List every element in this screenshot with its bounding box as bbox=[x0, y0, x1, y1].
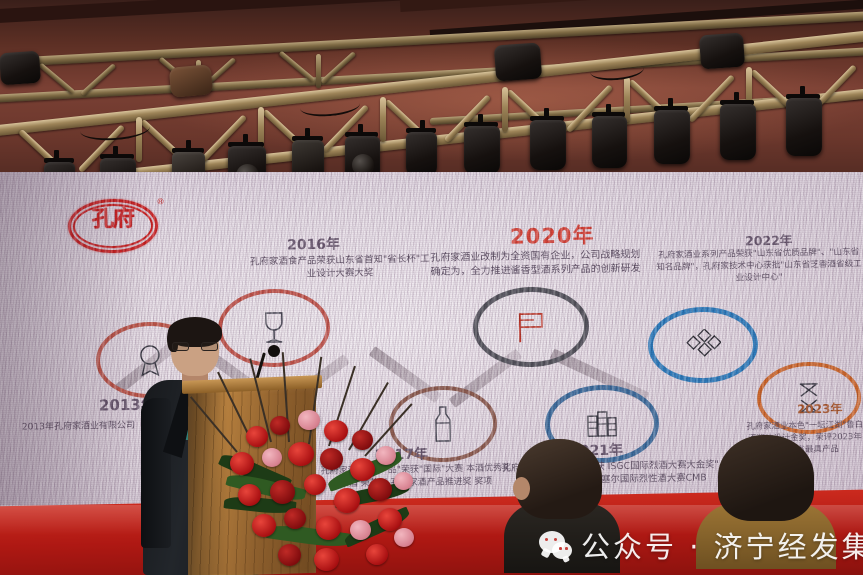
rose-pink bbox=[394, 528, 414, 547]
rose bbox=[238, 484, 261, 506]
rose-pink bbox=[350, 520, 371, 540]
truss-vertical bbox=[316, 54, 321, 88]
rose bbox=[270, 480, 295, 504]
rose bbox=[314, 548, 339, 571]
rose bbox=[350, 458, 375, 481]
rose bbox=[252, 514, 276, 537]
rose bbox=[334, 488, 360, 513]
audience-ear bbox=[513, 477, 530, 500]
microphone-head bbox=[268, 345, 280, 357]
rose bbox=[368, 478, 392, 501]
rose bbox=[320, 448, 343, 470]
watermark: 公众号 · 济宁经发集团 bbox=[539, 524, 863, 566]
audience-head bbox=[718, 435, 814, 521]
truss-vertical bbox=[502, 87, 508, 132]
rose bbox=[230, 452, 254, 475]
watermark-text: 公众号 · 济宁经发集团 bbox=[581, 524, 863, 566]
speaker-arm bbox=[141, 398, 171, 548]
rose bbox=[366, 544, 388, 565]
speaker-glasses bbox=[172, 342, 218, 351]
rose bbox=[352, 430, 373, 450]
wechat-icon bbox=[539, 531, 572, 559]
stage-light-rear bbox=[699, 33, 745, 70]
rose bbox=[316, 516, 341, 540]
rose bbox=[246, 426, 268, 447]
stage-light-rear bbox=[169, 64, 213, 98]
rose-pink bbox=[298, 410, 320, 430]
event-photo: 孔府 ® bbox=[0, 0, 863, 575]
rose bbox=[324, 420, 348, 442]
flower-arrangement bbox=[222, 368, 422, 573]
truss-vertical bbox=[380, 97, 386, 142]
rose bbox=[270, 416, 290, 435]
rose bbox=[378, 508, 402, 531]
audience-head bbox=[516, 439, 602, 519]
rose bbox=[304, 474, 326, 495]
ceiling-truss-area bbox=[0, 0, 863, 196]
rose-pink bbox=[376, 446, 396, 465]
stage-light-rear bbox=[0, 51, 41, 86]
rose-pink bbox=[394, 472, 413, 490]
screen-left-shadow bbox=[0, 172, 150, 527]
rose-pink bbox=[262, 448, 282, 467]
rose bbox=[284, 508, 306, 529]
rose bbox=[278, 544, 301, 566]
rose bbox=[288, 442, 314, 466]
stage-light-rear bbox=[494, 42, 542, 81]
flower-spike bbox=[308, 357, 322, 444]
